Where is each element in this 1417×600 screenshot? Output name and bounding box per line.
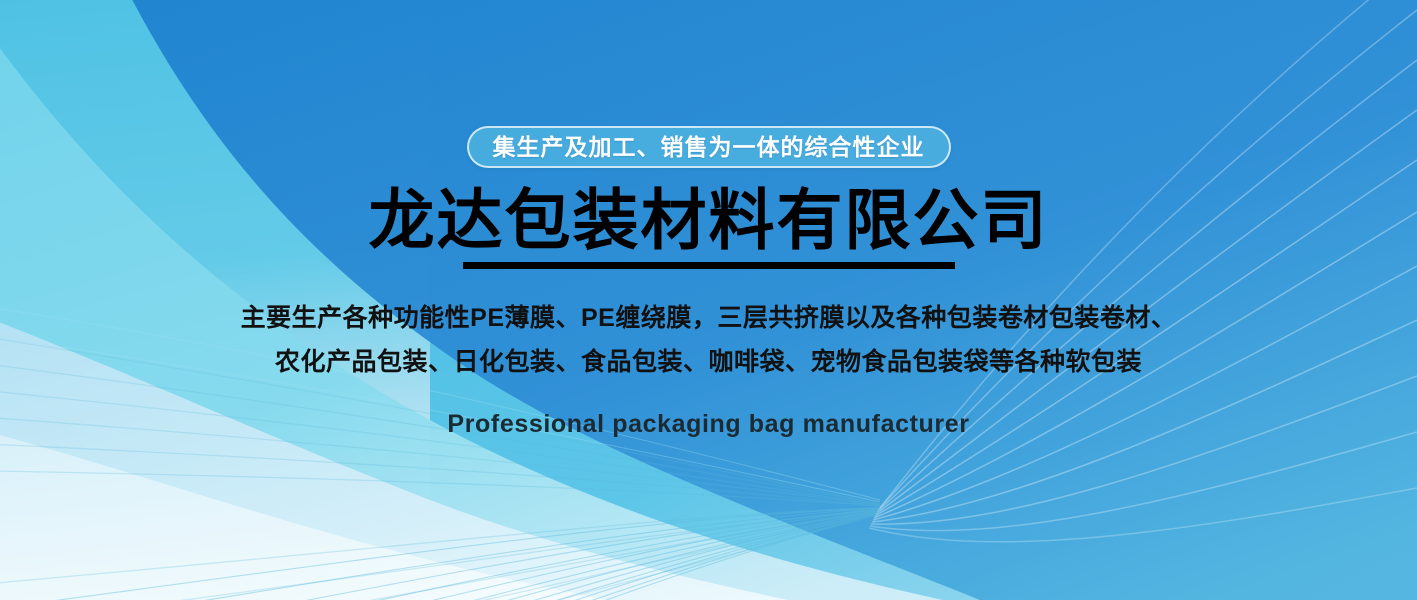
banner-content: 集生产及加工、销售为一体的综合性企业 龙达包装材料有限公司 主要生产各种功能性P… [0, 0, 1417, 600]
description-block: 主要生产各种功能性PE薄膜、PE缠绕膜，三层共挤膜以及各种包装卷材包装卷材、 农… [241, 296, 1177, 384]
english-tagline: Professional packaging bag manufacturer [447, 410, 969, 439]
description-line-2: 农化产品包装、日化包装、食品包装、咖啡袋、宠物食品包装袋等各种软包装 [241, 340, 1177, 384]
tagline-badge-label: 集生产及加工、销售为一体的综合性企业 [493, 136, 925, 159]
title-block: 龙达包装材料有限公司 [369, 184, 1049, 269]
company-title: 龙达包装材料有限公司 [369, 184, 1049, 258]
title-underline-rule [463, 262, 955, 269]
company-banner: 集生产及加工、销售为一体的综合性企业 龙达包装材料有限公司 主要生产各种功能性P… [0, 0, 1417, 600]
tagline-badge: 集生产及加工、销售为一体的综合性企业 [467, 126, 951, 168]
description-line-1: 主要生产各种功能性PE薄膜、PE缠绕膜，三层共挤膜以及各种包装卷材包装卷材、 [241, 296, 1177, 340]
